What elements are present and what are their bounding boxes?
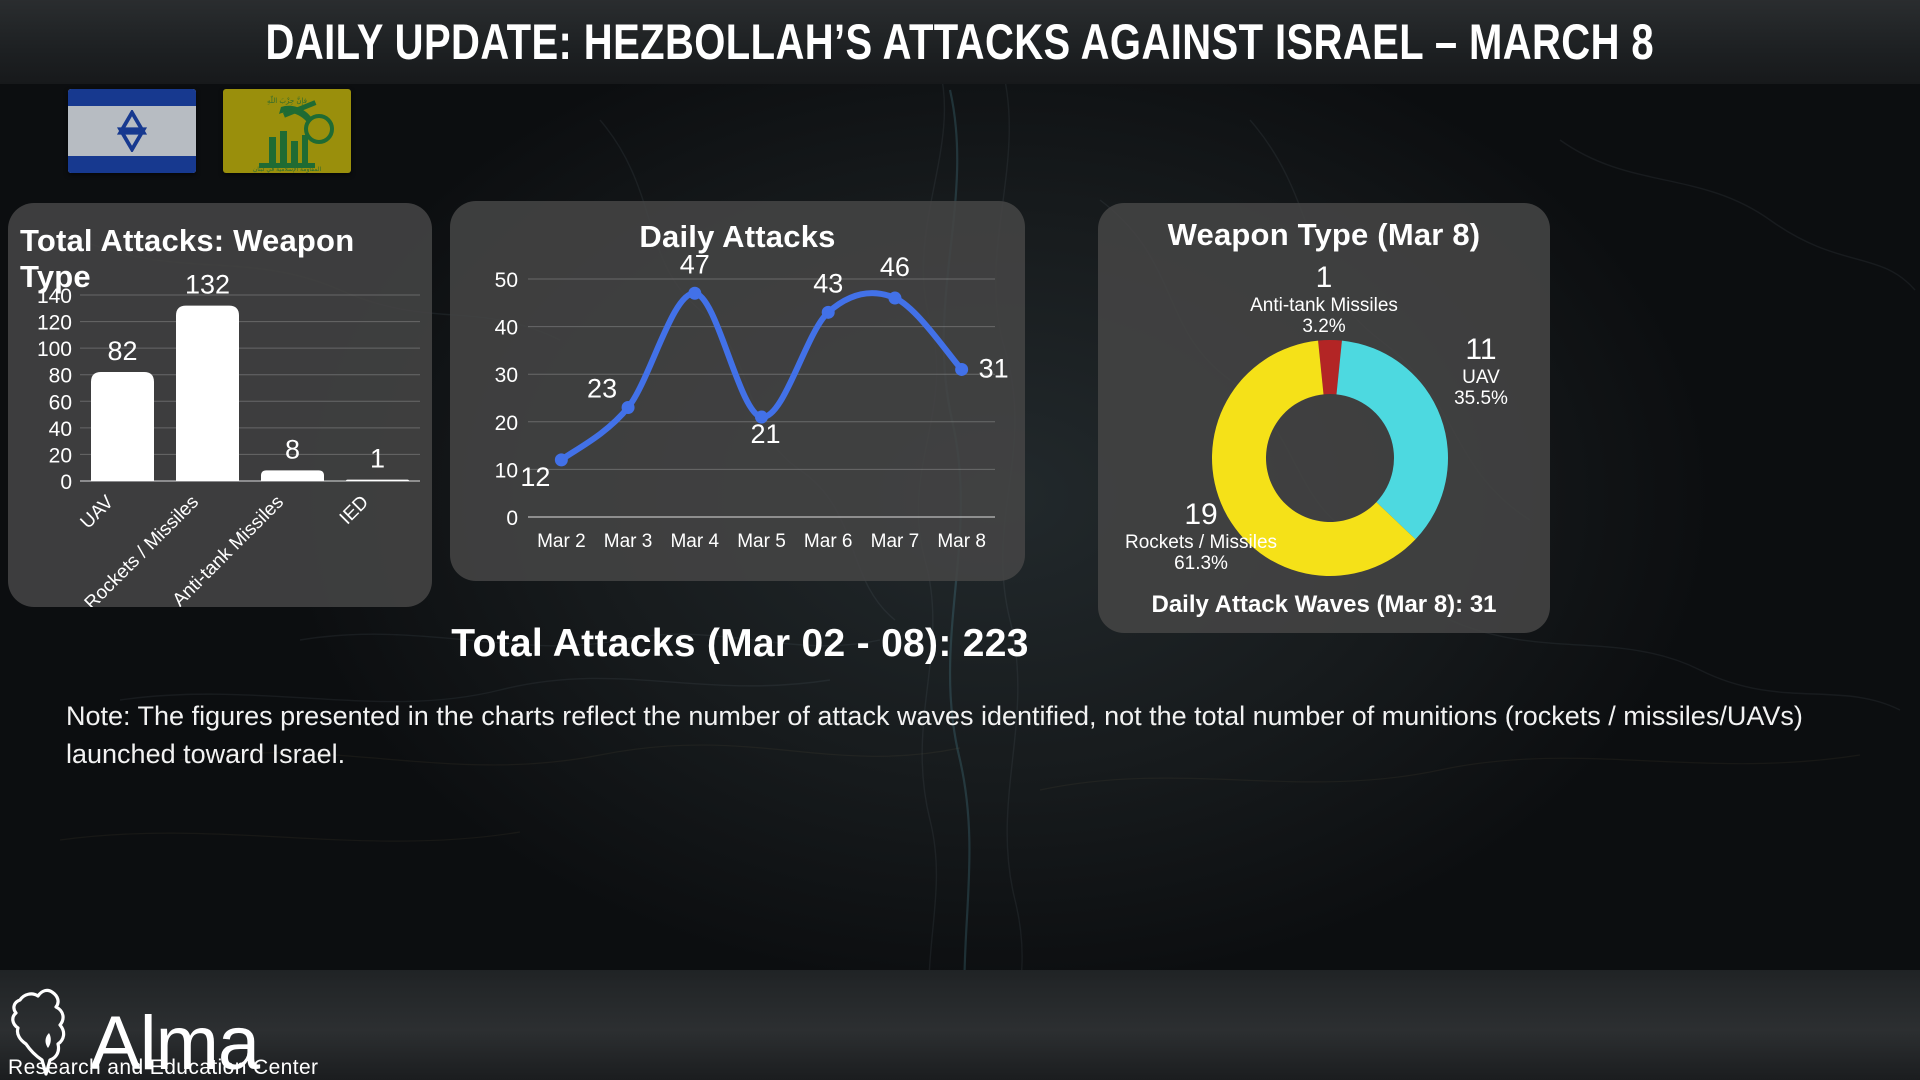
line-value-label-1: 23 (587, 374, 617, 404)
hezbollah-emblem-icon: فإنَّ حِزْبَ اللّهِ المقاومة الإسلامية ف… (223, 89, 351, 173)
svg-text:50: 50 (495, 269, 518, 292)
line-marker-0 (555, 453, 568, 466)
bar-2 (261, 470, 324, 481)
donut-label-rockets: 19 Rockets / Missiles 61.3% (1095, 498, 1307, 574)
donut-percent-rockets: 61.3% (1095, 553, 1307, 574)
panel-total-attacks-weapon-type: Total Attacks: Weapon Type 0204060801001… (8, 203, 432, 607)
bar-value-label-0: 82 (107, 336, 137, 366)
bar-category-label-3: IED (336, 492, 373, 529)
svg-text:80: 80 (49, 365, 72, 388)
svg-text:60: 60 (49, 391, 72, 414)
donut-footer-text: Daily Attack Waves (Mar 8): 31 (1098, 591, 1550, 619)
donut-value-rockets: 19 (1095, 498, 1307, 532)
donut-label-uav: 11 UAV 35.5% (1416, 333, 1546, 409)
svg-text:20: 20 (495, 412, 518, 435)
panel-daily-attacks: Daily Attacks 0102030405012Mar 223Mar 34… (450, 201, 1025, 581)
bar-value-label-2: 8 (285, 434, 300, 464)
line-category-label-0: Mar 2 (537, 531, 586, 552)
svg-text:40: 40 (495, 317, 518, 340)
line-marker-4 (822, 306, 835, 319)
svg-text:المقاومة الإسلامية في لبنان: المقاومة الإسلامية في لبنان (253, 166, 322, 173)
donut-name-uav: UAV (1416, 367, 1546, 388)
total-attacks-summary: Total Attacks (Mar 02 - 08): 223 (430, 622, 1050, 666)
line-category-label-1: Mar 3 (604, 531, 653, 552)
title-bar: DAILY UPDATE: HEZBOLLAH’S ATTACKS AGAINS… (0, 0, 1920, 84)
alma-logo-tagline: Research and Education Center (8, 1056, 318, 1080)
hezbollah-flag: فإنَّ حِزْبَ اللّهِ المقاومة الإسلامية ف… (223, 89, 351, 173)
page-title: DAILY UPDATE: HEZBOLLAH’S ATTACKS AGAINS… (266, 13, 1654, 71)
line-value-label-6: 31 (979, 353, 1009, 383)
footer-bar: Alma Research and Education Center (0, 970, 1920, 1080)
svg-text:0: 0 (60, 471, 72, 494)
svg-text:10: 10 (495, 459, 518, 482)
donut-name-anti-tank: Anti-tank Missiles (1218, 295, 1430, 316)
donut-name-rockets: Rockets / Missiles (1095, 532, 1307, 553)
bar-1 (176, 306, 239, 481)
svg-text:20: 20 (49, 444, 72, 467)
line-category-label-2: Mar 4 (670, 531, 719, 552)
line-category-label-5: Mar 7 (871, 531, 920, 552)
bar-chart: 02040608010012014082UAV132Rockets / Miss… (8, 203, 432, 607)
bar-value-label-3: 1 (370, 444, 385, 474)
israel-flag-top-band (68, 89, 196, 106)
svg-text:140: 140 (37, 285, 72, 308)
line-value-label-4: 43 (813, 268, 843, 298)
donut-value-uav: 11 (1416, 333, 1546, 367)
line-marker-2 (688, 287, 701, 300)
donut-label-anti-tank: 1 Anti-tank Missiles 3.2% (1218, 261, 1430, 337)
line-marker-6 (955, 363, 968, 376)
line-category-label-4: Mar 6 (804, 531, 853, 552)
line-chart: 0102030405012Mar 223Mar 347Mar 421Mar 54… (450, 201, 1025, 581)
bar-value-label-1: 132 (185, 270, 230, 300)
svg-text:0: 0 (506, 507, 518, 530)
line-value-label-5: 46 (880, 252, 910, 282)
svg-text:30: 30 (495, 364, 518, 387)
line-category-label-3: Mar 5 (737, 531, 786, 552)
line-value-label-0: 12 (520, 462, 550, 492)
donut-percent-uav: 35.5% (1416, 388, 1546, 409)
note-text: Note: The figures presented in the chart… (66, 697, 1856, 774)
bar-3 (346, 480, 409, 482)
line-value-label-3: 21 (750, 419, 780, 449)
donut-percent-anti-tank: 3.2% (1218, 316, 1430, 337)
panel-weapon-type-mar8: Weapon Type (Mar 8) 1 Anti-tank Missiles… (1098, 203, 1550, 633)
israel-flag-bottom-band (68, 156, 196, 173)
line-value-label-2: 47 (680, 249, 710, 279)
svg-text:100: 100 (37, 338, 72, 361)
svg-text:40: 40 (49, 418, 72, 441)
flags-row: فإنَّ حِزْبَ اللّهِ المقاومة الإسلامية ف… (68, 89, 351, 173)
bar-0 (91, 372, 154, 481)
svg-text:120: 120 (37, 312, 72, 335)
line-category-label-6: Mar 8 (937, 531, 986, 552)
infographic-root: DAILY UPDATE: HEZBOLLAH’S ATTACKS AGAINS… (0, 0, 1920, 1080)
israel-flag (68, 89, 196, 173)
line-marker-5 (888, 292, 901, 305)
donut-value-anti-tank: 1 (1218, 261, 1430, 295)
svg-text:فإنَّ حِزْبَ اللّهِ: فإنَّ حِزْبَ اللّهِ (267, 94, 307, 105)
bar-category-label-0: UAV (77, 491, 119, 533)
star-of-david-icon (111, 110, 153, 152)
line-marker-1 (622, 401, 635, 414)
